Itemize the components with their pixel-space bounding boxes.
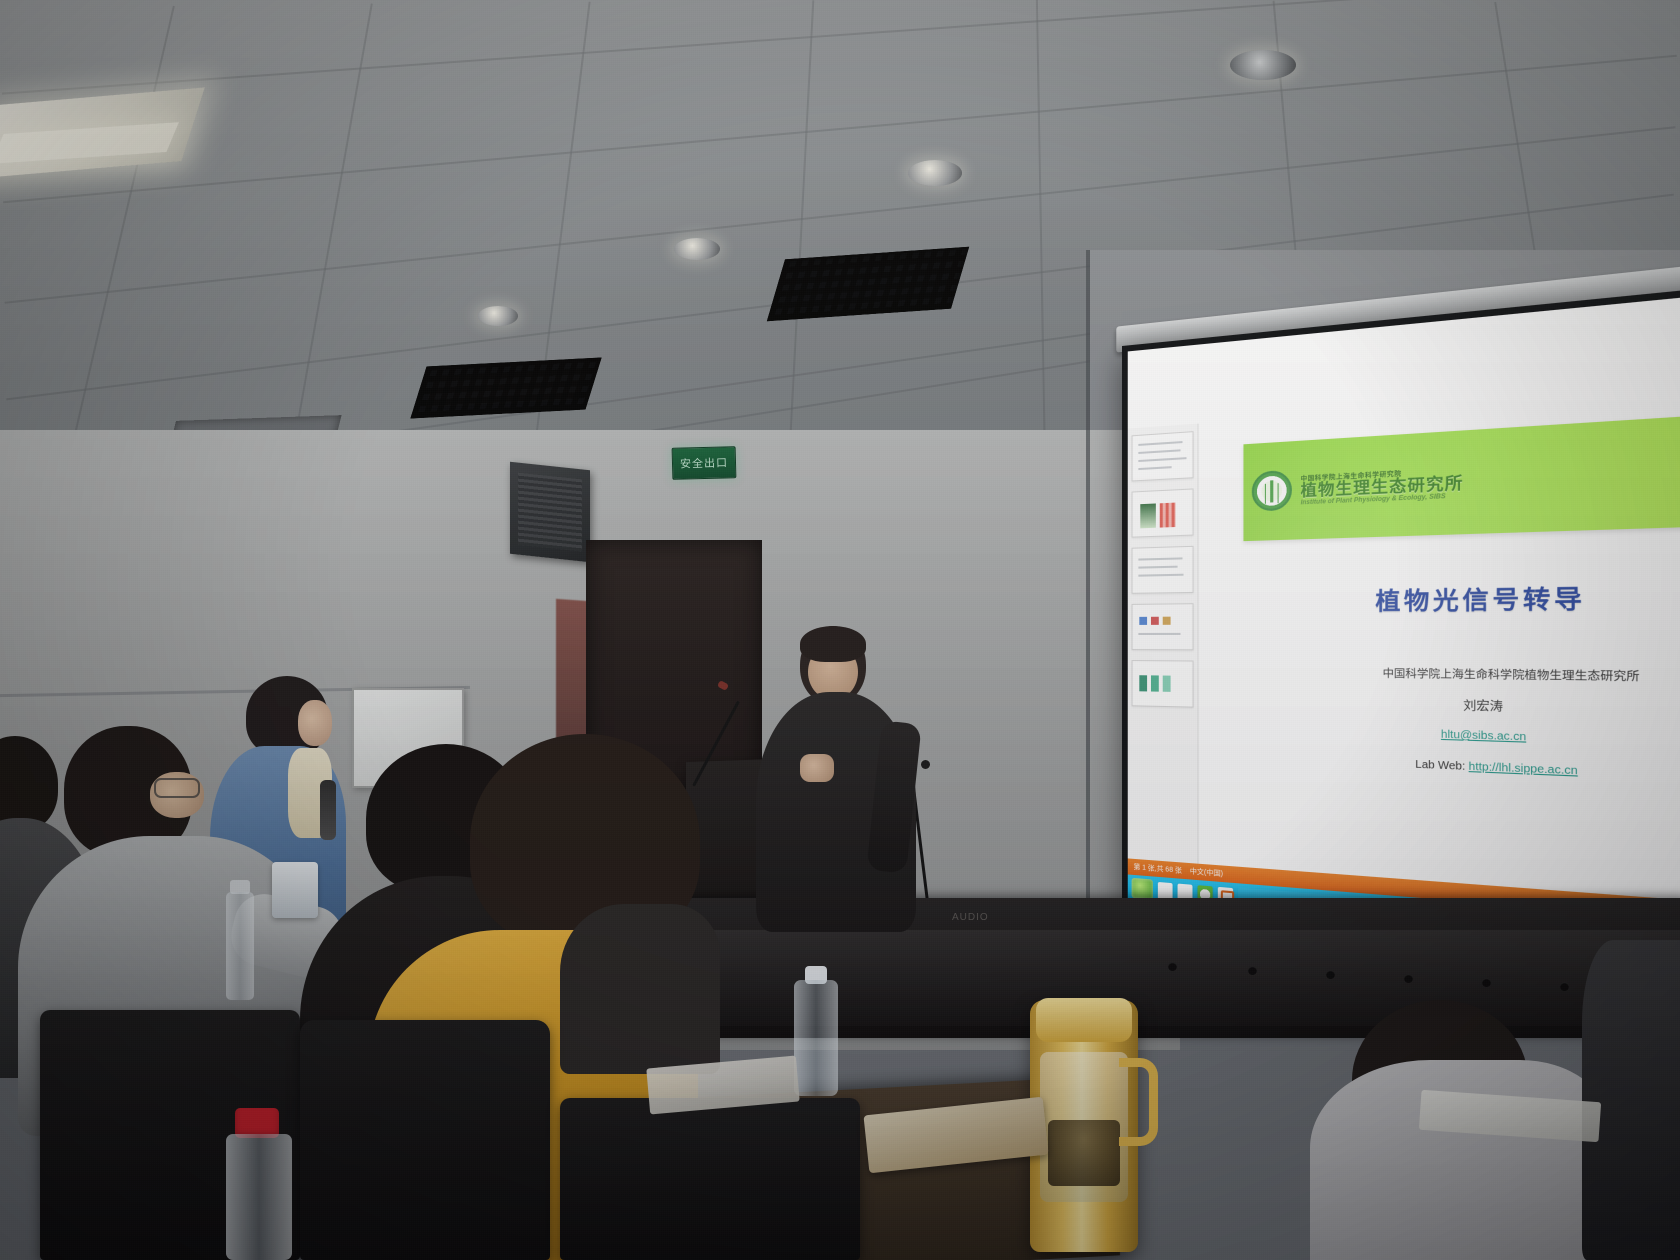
paper-cup [272, 862, 318, 918]
bottle-body [794, 980, 838, 1096]
mic-holder-face [298, 700, 332, 746]
slide-author: 刘宏涛 [1205, 691, 1680, 722]
thermos-handle [1119, 1058, 1158, 1146]
slide-thumbnail-panel[interactable] [1128, 367, 1199, 864]
tea-thermos [1030, 1000, 1138, 1252]
presenter-hand [800, 754, 834, 782]
projection-screen: 文件 开始 插入 设计 切换 动画 幻灯片放映 [1122, 270, 1680, 1006]
ceiling-grille-light [410, 358, 601, 419]
desk-grommet [1560, 982, 1569, 991]
slide-title: 植物光信号转导 [1205, 575, 1680, 618]
ceiling-downlight [1230, 50, 1296, 80]
slide-thumbnail[interactable] [1132, 603, 1194, 650]
ceiling-downlight [908, 160, 962, 186]
water-bottle-clear [226, 880, 254, 1000]
bottle-body [226, 892, 254, 1000]
slide-lab-web: Lab Web: http://lhl.sippe.ac.cn [1205, 751, 1680, 789]
screen-frame: 文件 开始 插入 设计 切换 动画 幻灯片放映 [1122, 279, 1680, 967]
light-knit-top [1310, 1060, 1610, 1260]
wall-speaker [510, 462, 590, 562]
eyeglasses-icon [154, 778, 200, 798]
slide-thumbnail[interactable] [1132, 546, 1194, 594]
slide-thumbnail[interactable] [1132, 488, 1194, 537]
water-bottle-on-desk [794, 966, 838, 1096]
wall-corner [1086, 250, 1090, 950]
status-slide-counter: 第 1 张,共 68 张 [1134, 862, 1182, 876]
desk-grommet [1248, 966, 1257, 975]
status-language: 中文(中国) [1190, 866, 1223, 879]
slide-email[interactable]: hltu@sibs.ac.cn [1205, 722, 1680, 753]
seminar-room-photo: 安全出口 文件 开始 插入 设计 切换 动画 幻灯片放映 [0, 0, 1680, 1260]
water-bottle-red-cap [226, 1108, 292, 1260]
office-chair [300, 1020, 550, 1260]
exit-sign-label: 安全出口 [680, 454, 728, 471]
institute-banner-text: 中国科学院上海生命科学研究院 植物生理生态研究所 Institute of Pl… [1301, 465, 1464, 506]
bottle-body [226, 1134, 292, 1260]
office-chair [560, 1098, 860, 1260]
desk-label: AUDIO [952, 912, 989, 923]
presenter [756, 626, 926, 926]
ceiling-downlight [478, 306, 518, 326]
exit-sign: 安全出口 [672, 446, 737, 480]
slide-thumbnail[interactable] [1132, 431, 1194, 481]
lab-web-url[interactable]: http://lhl.sippe.ac.cn [1469, 761, 1578, 778]
handheld-microphone [320, 780, 336, 840]
desk-grommet [1168, 962, 1177, 971]
slide-affiliation: 中国科学院上海生命科学院植物生理生态研究所 [1234, 662, 1680, 685]
desk-grommet [1404, 974, 1413, 983]
lab-web-label: Lab Web: [1415, 759, 1465, 773]
ceiling-downlight [674, 238, 720, 260]
institute-banner: 中国科学院上海生命科学研究院 植物生理生态研究所 Institute of Pl… [1244, 408, 1680, 541]
presenter-fringe [800, 626, 866, 662]
slide-thumbnail[interactable] [1132, 660, 1194, 708]
institute-seal-icon [1252, 470, 1292, 512]
thermos-lid [1036, 998, 1132, 1042]
desk-grommet [1482, 978, 1491, 987]
screen-surface: 文件 开始 插入 设计 切换 动画 幻灯片放映 [1128, 288, 1680, 959]
audience-shoulder-dark [560, 904, 720, 1074]
tea-leaves [1048, 1120, 1120, 1186]
desk-grommet [1326, 970, 1335, 979]
start-button-icon[interactable] [1132, 878, 1153, 900]
